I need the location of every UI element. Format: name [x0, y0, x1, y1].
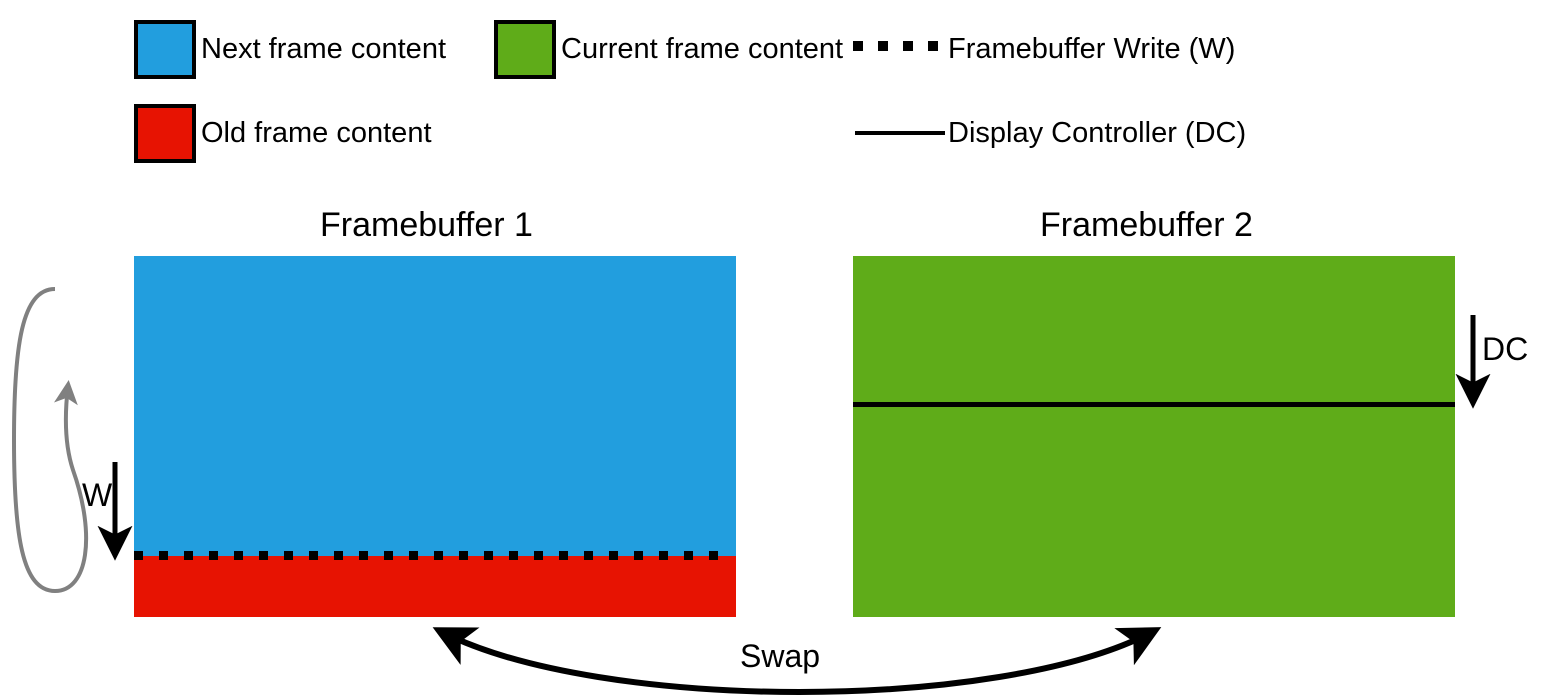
legend-label-framebuffer-write: Framebuffer Write (W) [948, 35, 1235, 64]
swap-arrow-label: Swap [740, 640, 820, 672]
legend-dotted-line-icon [853, 41, 938, 51]
legend-label-current-frame: Current frame content [561, 35, 843, 64]
framebuffer-1 [134, 256, 736, 617]
framebuffer-2 [853, 256, 1455, 617]
legend-label-display-controller: Display Controller (DC) [948, 119, 1246, 148]
write-arrow-label: W [82, 479, 112, 511]
legend-solid-line-icon [855, 131, 945, 135]
write-loop-arrow [14, 289, 86, 591]
diagram-canvas: Next frame content Current frame content… [0, 0, 1542, 700]
framebuffer-1-title: Framebuffer 1 [320, 208, 533, 242]
legend-swatch-old-frame [134, 104, 196, 163]
framebuffer-1-old-frame-region [134, 556, 736, 617]
legend-label-next-frame: Next frame content [201, 35, 446, 64]
legend-swatch-current-frame [494, 20, 556, 79]
display-controller-arrow-label: DC [1482, 333, 1528, 365]
framebuffer-write-boundary-dotted-line [134, 551, 736, 560]
legend-swatch-next-frame [134, 20, 196, 79]
legend-label-old-frame: Old frame content [201, 119, 432, 148]
framebuffer-1-next-frame-region [134, 256, 736, 556]
display-controller-scanline [853, 402, 1455, 407]
framebuffer-2-title: Framebuffer 2 [1040, 208, 1253, 242]
